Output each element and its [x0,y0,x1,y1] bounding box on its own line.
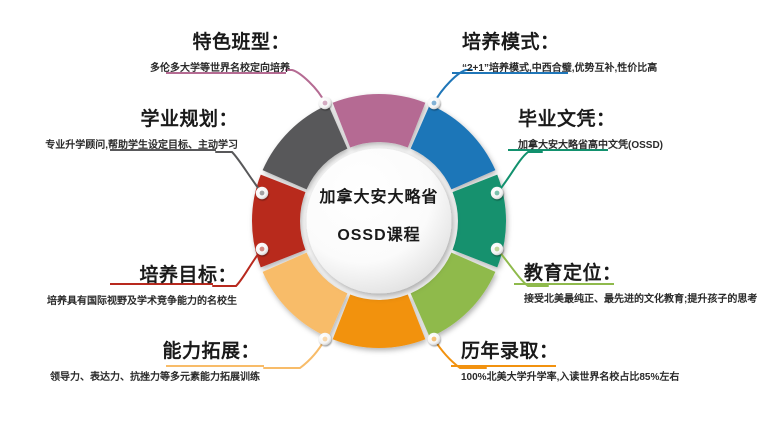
infographic-canvas: 加拿大安大略省 OSSD课程 特色班型： 多伦多大学等世界名校定向培养 学业规划… [0,0,757,438]
connector-dot-graduation-diploma[interactable] [491,187,503,199]
leader-line-training-mode [434,70,472,103]
label-education-positioning-title: 教育定位： [524,264,757,285]
label-ability-development-desc: 领导力、表达力、抗挫力等多元素能力拓展训练 [0,372,260,384]
connector-dot-ability-development[interactable] [319,333,331,345]
label-admission-record[interactable]: 历年录取： 100%北美大学升学率,入读世界名校占比85%左右 [461,342,679,384]
connector-dot-education-positioning[interactable] [491,243,503,255]
label-feature-class[interactable]: 特色班型： 多伦多大学等世界名校定向培养 [0,33,290,75]
label-graduation-diploma-desc: 加拿大安大略省高中文凭(OSSD) [518,140,663,152]
label-training-mode-title: 培养模式： [462,33,657,54]
label-training-goal-desc: 培养具有国际视野及学术竞争能力的名校生 [0,296,237,308]
connector-dot-academic-planning[interactable] [256,187,268,199]
label-academic-planning-title: 学业规划： [0,110,238,131]
label-feature-class-desc: 多伦多大学等世界名校定向培养 [0,63,290,75]
leader-line-academic-planning [216,152,262,193]
label-ability-development[interactable]: 能力拓展： 领导力、表达力、抗挫力等多元素能力拓展训练 [0,342,260,384]
donut-segment-feature-class[interactable] [333,94,426,147]
label-admission-record-desc: 100%北美大学升学率,入读世界名校占比85%左右 [461,372,679,384]
leader-line-graduation-diploma [497,152,542,193]
center-label: 加拿大安大略省 OSSD课程 [289,190,469,244]
donut-segment-admission-record[interactable] [333,295,426,348]
label-admission-record-title: 历年录取： [461,342,679,363]
leader-line-ability-development [264,339,325,368]
connector-dot-feature-class[interactable] [319,97,331,109]
label-training-mode-desc: “2+1”培养模式,中西合璧,优势互补,性价比高 [462,63,657,75]
connector-dot-training-mode[interactable] [428,97,440,109]
label-training-goal-title: 培养目标： [0,266,237,287]
label-training-mode[interactable]: 培养模式： “2+1”培养模式,中西合璧,优势互补,性价比高 [462,33,657,75]
label-graduation-diploma-title: 毕业文凭： [518,110,663,131]
connector-dot-admission-record[interactable] [428,333,440,345]
label-ability-development-title: 能力拓展： [0,342,260,363]
label-education-positioning-desc: 接受北美最纯正、最先进的文化教育;提升孩子的思考力 [524,294,757,306]
label-graduation-diploma[interactable]: 毕业文凭： 加拿大安大略省高中文凭(OSSD) [518,110,663,152]
center-line-2: OSSD课程 [289,228,469,244]
center-line-1: 加拿大安大略省 [289,190,469,206]
label-training-goal[interactable]: 培养目标： 培养具有国际视野及学术竞争能力的名校生 [0,266,237,308]
connector-dot-training-goal[interactable] [256,243,268,255]
label-feature-class-title: 特色班型： [0,33,290,54]
label-academic-planning-desc: 专业升学顾问,帮助学生设定目标、主动学习 [0,140,238,152]
leader-line-feature-class [286,70,325,103]
label-education-positioning[interactable]: 教育定位： 接受北美最纯正、最先进的文化教育;提升孩子的思考力 [524,264,757,306]
label-academic-planning[interactable]: 学业规划： 专业升学顾问,帮助学生设定目标、主动学习 [0,110,238,152]
